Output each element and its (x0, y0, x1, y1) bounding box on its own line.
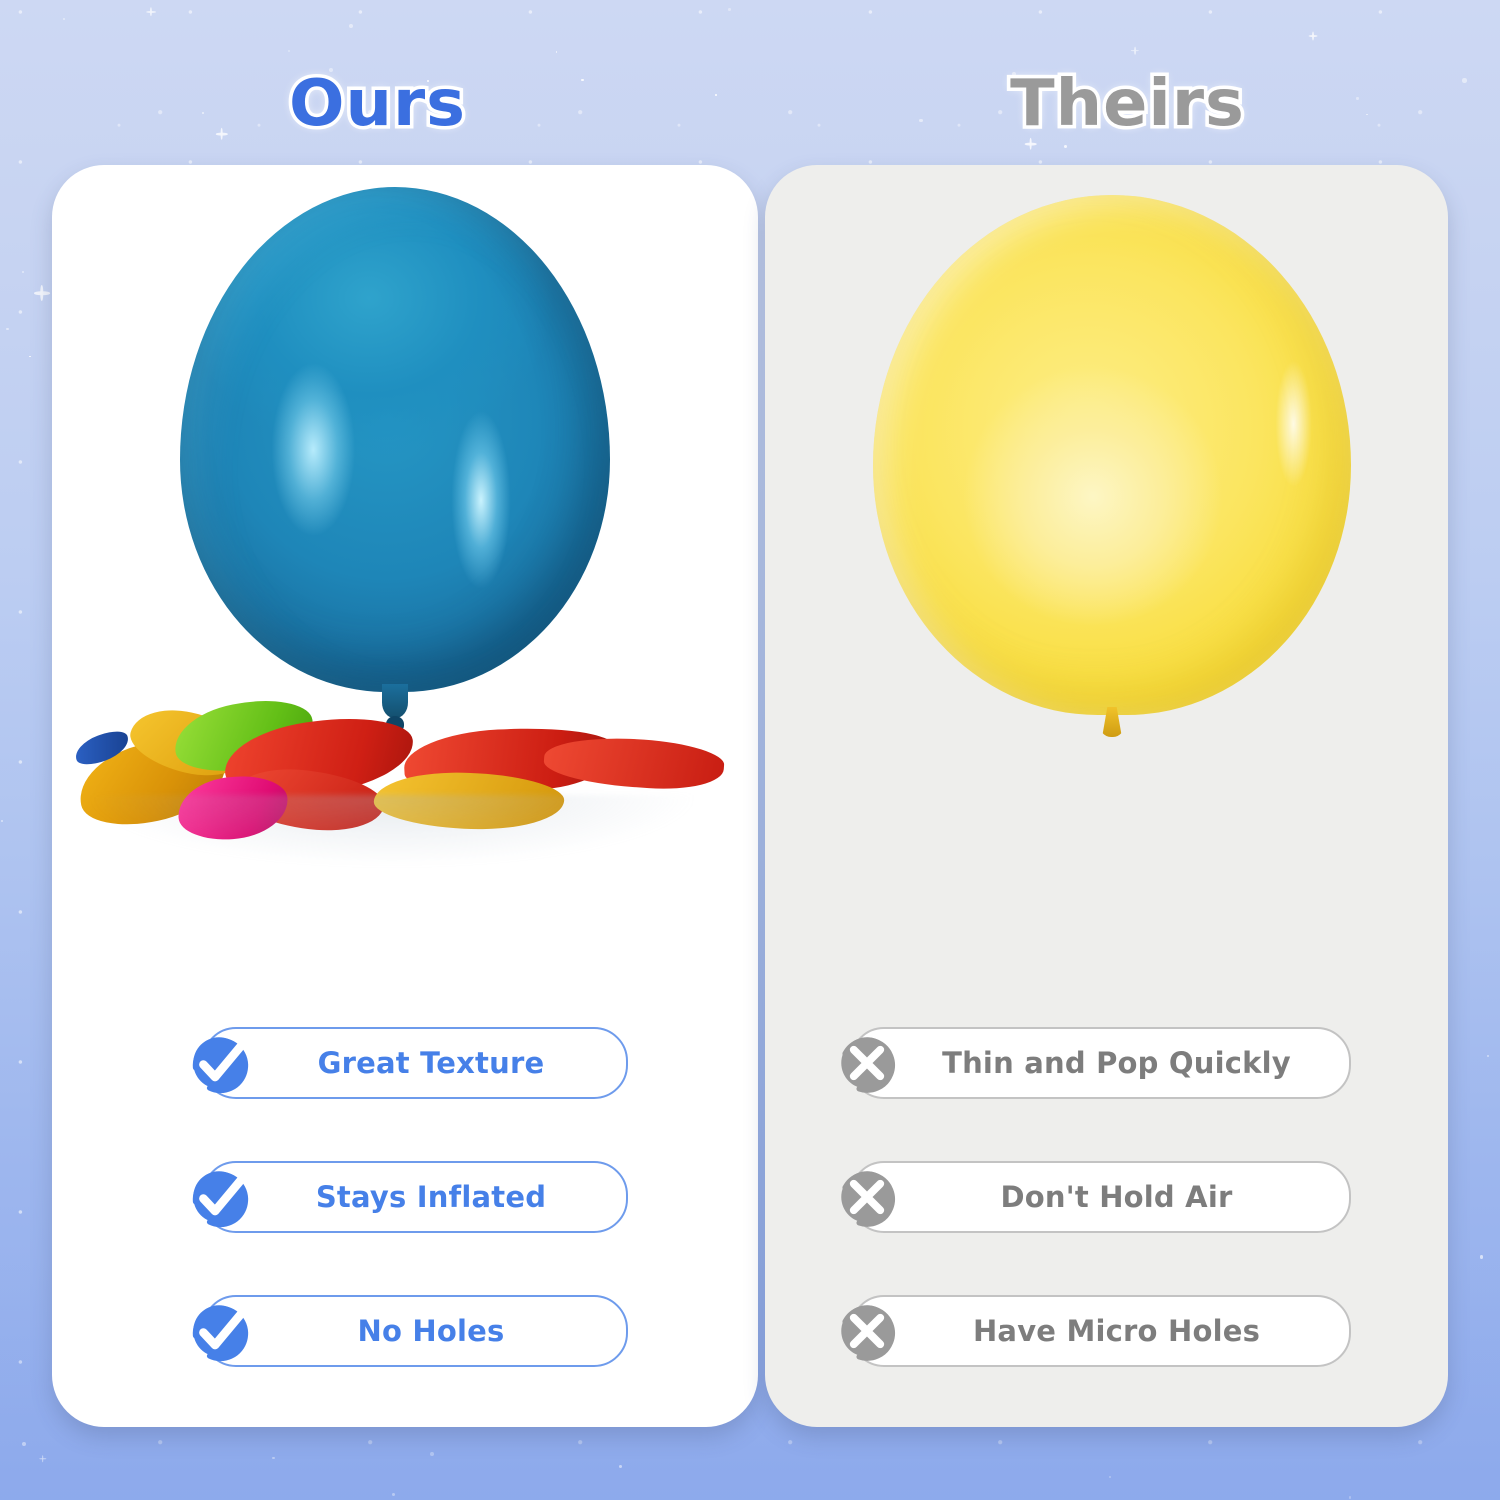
feature-pill-theirs-1[interactable]: Thin and Pop Quickly (850, 1027, 1351, 1099)
feature-label: Stays Inflated (204, 1180, 626, 1214)
balloon-knot (1099, 707, 1125, 737)
card-ours: Great Texture Stays Inflated (52, 165, 758, 1427)
check-circle-icon (180, 1024, 258, 1102)
feature-list-theirs: Thin and Pop Quickly Don't Hold Air (765, 1027, 1448, 1367)
teal-balloon-image (180, 187, 610, 692)
x-circle-icon (828, 1024, 906, 1102)
product-photo-theirs (765, 165, 1448, 925)
feature-pill-theirs-3[interactable]: Have Micro Holes (850, 1295, 1351, 1367)
comparison-infographic: Ours Theirs (0, 0, 1500, 1500)
feature-pill-ours-3[interactable]: No Holes (202, 1295, 628, 1367)
check-circle-icon (180, 1292, 258, 1370)
feature-pill-ours-2[interactable]: Stays Inflated (202, 1161, 628, 1233)
product-photo-ours (52, 165, 758, 925)
feature-pill-ours-1[interactable]: Great Texture (202, 1027, 628, 1099)
check-circle-icon (180, 1158, 258, 1236)
page-title-ours: Ours (0, 72, 763, 136)
x-circle-icon (828, 1158, 906, 1236)
feature-label: No Holes (204, 1314, 626, 1348)
floor-reflection (92, 795, 692, 865)
card-theirs: Thin and Pop Quickly Don't Hold Air (765, 165, 1448, 1427)
page-title-theirs: Theirs (748, 72, 1500, 136)
feature-list-ours: Great Texture Stays Inflated (52, 1027, 758, 1367)
feature-label: Great Texture (204, 1046, 626, 1080)
yellow-balloon-image (873, 195, 1351, 715)
feature-label: Thin and Pop Quickly (852, 1046, 1349, 1080)
feature-label: Don't Hold Air (852, 1180, 1349, 1214)
feature-pill-theirs-2[interactable]: Don't Hold Air (850, 1161, 1351, 1233)
x-circle-icon (828, 1292, 906, 1370)
feature-label: Have Micro Holes (852, 1314, 1349, 1348)
